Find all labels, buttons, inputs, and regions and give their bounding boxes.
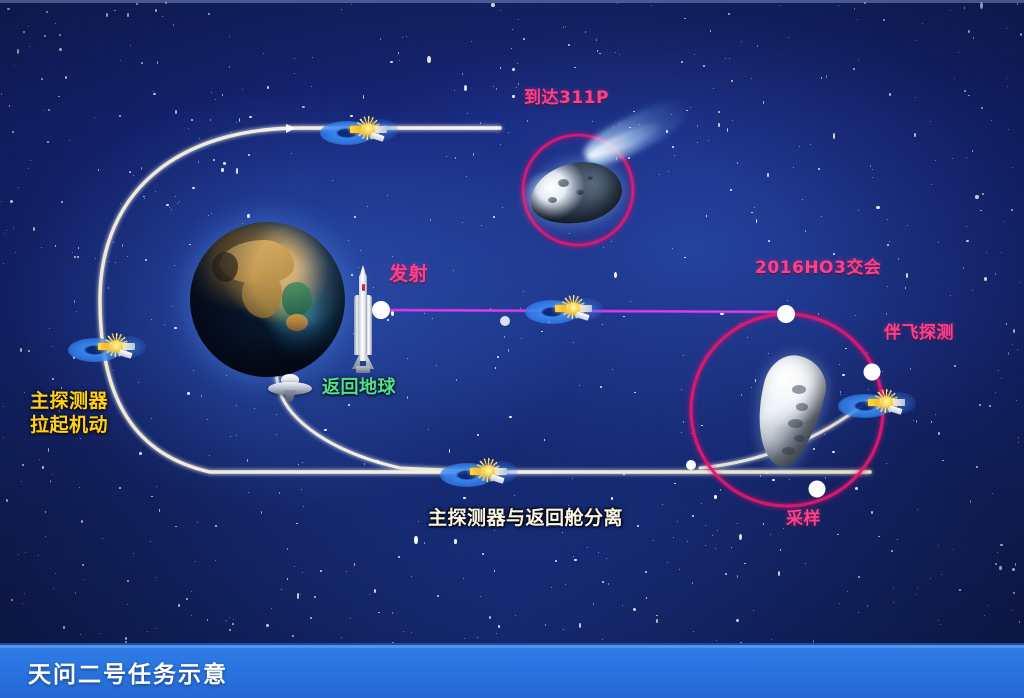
label-launch: 发射 <box>389 263 428 287</box>
node-marker-top <box>777 305 795 323</box>
rocket-booster-right <box>367 295 372 355</box>
label-companion-flight: 伴飞探测 <box>884 323 954 344</box>
label-main-probe-maneuver: 主探测器 拉起机动 <box>30 390 108 438</box>
asteroid-crater-5 <box>782 447 795 455</box>
probe-solar-panel-right <box>494 468 507 475</box>
probe-icon-separation <box>464 455 510 489</box>
rocket-engine-base <box>356 366 370 373</box>
node-marker-bottom <box>809 481 826 498</box>
bottom-banner: 天问二号任务示意 <box>0 643 1024 698</box>
label-rendezvous-2016ho3: 2016HO3交会 <box>755 258 881 279</box>
comet-crater-1 <box>558 179 569 187</box>
trajectory-layer <box>0 0 1024 698</box>
probe-solar-panel-right <box>892 399 905 406</box>
label-separation: 主探测器与返回舱分离 <box>428 507 623 531</box>
comet-crater-4 <box>586 175 593 180</box>
banner-top-edge <box>0 645 1024 648</box>
rocket-flag-marking <box>362 284 365 291</box>
earth-terminator-shadow <box>190 222 345 377</box>
label-sampling: 采样 <box>786 509 821 530</box>
asteroid-crater-1 <box>792 385 806 394</box>
launch-rocket-icon <box>352 265 374 377</box>
label-arrive-311p: 到达311P <box>524 88 609 109</box>
probe-icon-left <box>92 330 138 364</box>
probe-icon-companion <box>862 386 908 420</box>
probe-solar-panel-right <box>374 126 387 133</box>
capsule-base <box>282 390 298 402</box>
probe-solar-panel-right <box>579 305 592 312</box>
node-marker-launch <box>372 301 390 319</box>
mission-diagram-stage: 到达311P 发射 2016HO3交会 伴飞探测 采样 返回地球 主探测器 拉起… <box>0 0 1024 698</box>
probe-icon-top <box>344 113 390 147</box>
asteroid-crater-3 <box>788 419 803 428</box>
node-marker-right <box>864 364 881 381</box>
banner-title: 天问二号任务示意 <box>28 655 228 689</box>
node-marker-left <box>686 460 696 470</box>
earth-globe <box>190 222 345 377</box>
return-capsule-icon <box>268 372 312 404</box>
probe-icon-cruise <box>549 292 595 326</box>
asteroid-crater-4 <box>794 435 805 442</box>
comet-crater-2 <box>576 189 584 195</box>
asteroid-2016ho3-object <box>758 355 820 467</box>
orbit-direction-chevron <box>286 124 296 133</box>
comet-311p-object <box>520 145 640 235</box>
comet-crater-3 <box>548 197 557 203</box>
node-marker-mid <box>500 316 510 326</box>
probe-solar-panel-right <box>122 343 135 350</box>
asteroid-crater-2 <box>796 403 808 411</box>
label-return-to-earth: 返回地球 <box>322 377 396 400</box>
